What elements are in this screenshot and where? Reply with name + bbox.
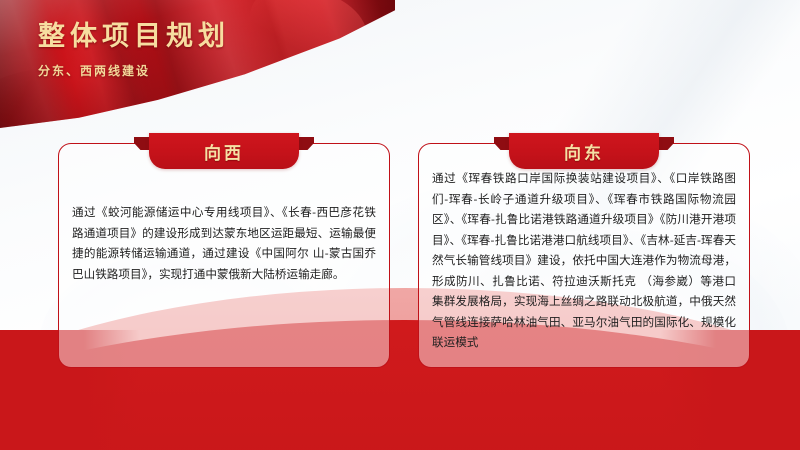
flag-fold-highlight-3: [241, 0, 375, 82]
ribbon-west: 向西: [149, 133, 299, 169]
page-title: 整体项目规划: [38, 22, 230, 52]
header-text-group: 整体项目规划 分东、西两线建设: [38, 22, 230, 79]
ribbon-east-label: 向东: [564, 139, 604, 164]
ribbon-west-body: 向西: [149, 133, 299, 169]
ribbon-east: 向东: [509, 133, 659, 169]
ribbon-east-body: 向东: [509, 133, 659, 169]
panel-east-body: 通过《珲春铁路口岸国际换装站建设项目》、《口岸铁路图们-珲春-长岭子通道升级项目…: [419, 168, 749, 353]
panel-west-body: 通过《蛟河能源储运中心专用线项目》、《长春-西巴彦花铁路通道项目》的建设形成到达…: [59, 202, 389, 284]
panel-east: 通过《珲春铁路口岸国际换装站建设项目》、《口岸铁路图们-珲春-长岭子通道升级项目…: [418, 143, 750, 368]
page-subtitle: 分东、西两线建设: [38, 62, 230, 79]
panel-west: 通过《蛟河能源储运中心专用线项目》、《长春-西巴彦花铁路通道项目》的建设形成到达…: [58, 143, 390, 368]
presentation-slide: 整体项目规划 分东、西两线建设 通过《蛟河能源储运中心专用线项目》、《长春-西巴…: [0, 0, 800, 450]
ribbon-west-label: 向西: [204, 139, 244, 164]
